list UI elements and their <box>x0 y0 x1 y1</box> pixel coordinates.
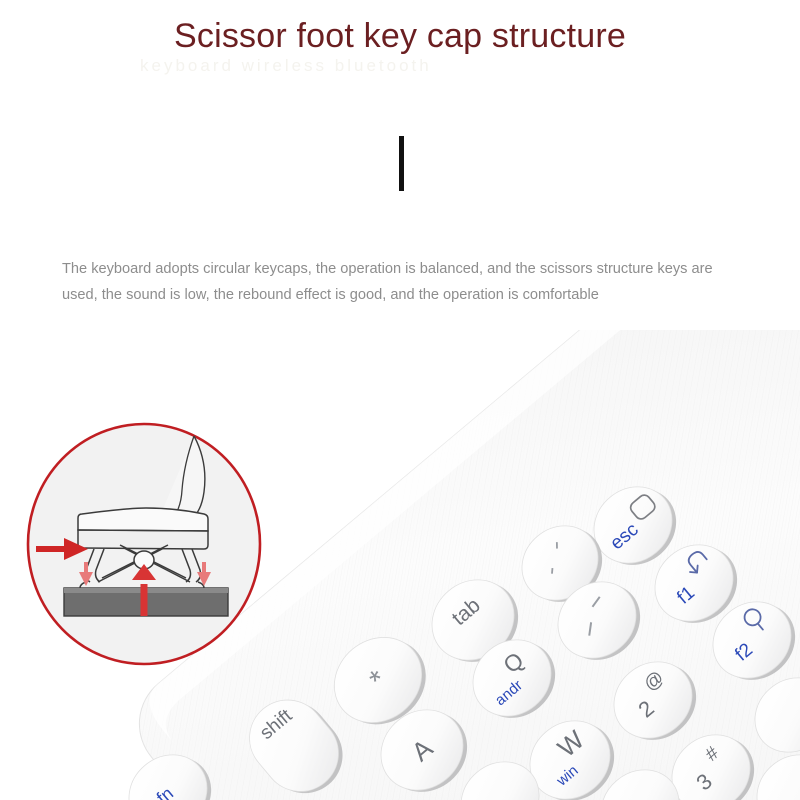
background-watermark: keyboard wireless bluetooth <box>140 56 660 82</box>
description-text: The keyboard adopts circular keycaps, th… <box>62 256 752 308</box>
scissor-diagram-svg <box>18 418 274 674</box>
product-feature-slide: keyboard wireless bluetooth Scissor foot… <box>0 0 800 800</box>
scissor-mechanism-diagram <box>18 418 274 674</box>
page-title: Scissor foot key cap structure <box>0 14 800 58</box>
keycap <box>78 508 208 549</box>
vertical-divider-bar <box>399 136 404 191</box>
